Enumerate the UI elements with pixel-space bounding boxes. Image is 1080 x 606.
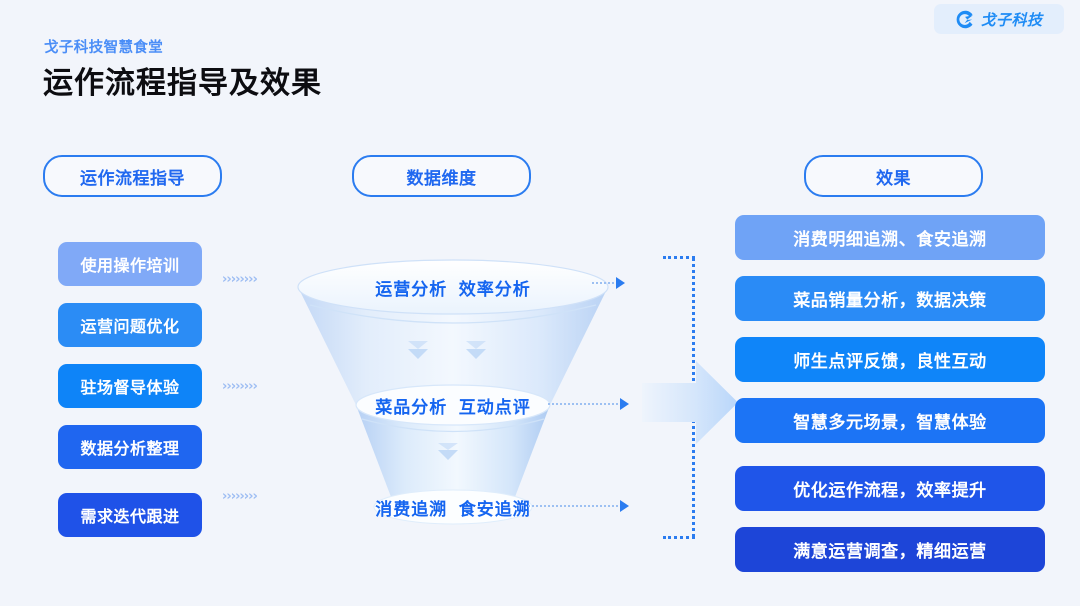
chevron-connector-icon: ›››››››› — [222, 272, 257, 287]
result-card-2[interactable]: 菜品销量分析，数据决策 — [735, 276, 1045, 321]
flow-arrow-icon — [640, 355, 740, 450]
chevron-connector-icon: ›››››››› — [222, 379, 257, 394]
step-chip-2[interactable]: 运营问题优化 — [58, 303, 202, 347]
funnel-out-connector-2 — [548, 398, 636, 410]
column-header-dimension: 数据维度 — [352, 155, 531, 197]
result-card-6[interactable]: 满意运营调查，精细运营 — [735, 527, 1045, 572]
step-chip-1[interactable]: 使用操作培训 — [58, 242, 202, 286]
funnel-out-connector-1 — [592, 277, 632, 289]
result-card-4[interactable]: 智慧多元场景，智慧体验 — [735, 398, 1045, 443]
result-card-3[interactable]: 师生点评反馈，良性互动 — [735, 337, 1045, 382]
brand-logo-badge: 戈子科技 — [934, 4, 1064, 34]
step-chip-4[interactable]: 数据分析整理 — [58, 425, 202, 469]
funnel-level-1-label: 运营分析 效率分析 — [288, 275, 618, 300]
page-eyebrow: 戈子科技智慧食堂 — [44, 36, 163, 57]
column-header-process: 运作流程指导 — [43, 155, 222, 197]
chevron-connector-icon: ›››››››› — [222, 489, 257, 504]
column-header-effect: 效果 — [804, 155, 983, 197]
step-chip-3[interactable]: 驻场督导体验 — [58, 364, 202, 408]
funnel-out-connector-3 — [528, 500, 636, 512]
swirl-logo-icon — [955, 9, 976, 30]
brand-logo-text: 戈子科技 — [980, 9, 1042, 30]
result-card-5[interactable]: 优化运作流程，效率提升 — [735, 466, 1045, 511]
step-chip-5[interactable]: 需求迭代跟进 — [58, 493, 202, 537]
result-card-1[interactable]: 消费明细追溯、食安追溯 — [735, 215, 1045, 260]
page-title: 运作流程指导及效果 — [43, 58, 322, 102]
